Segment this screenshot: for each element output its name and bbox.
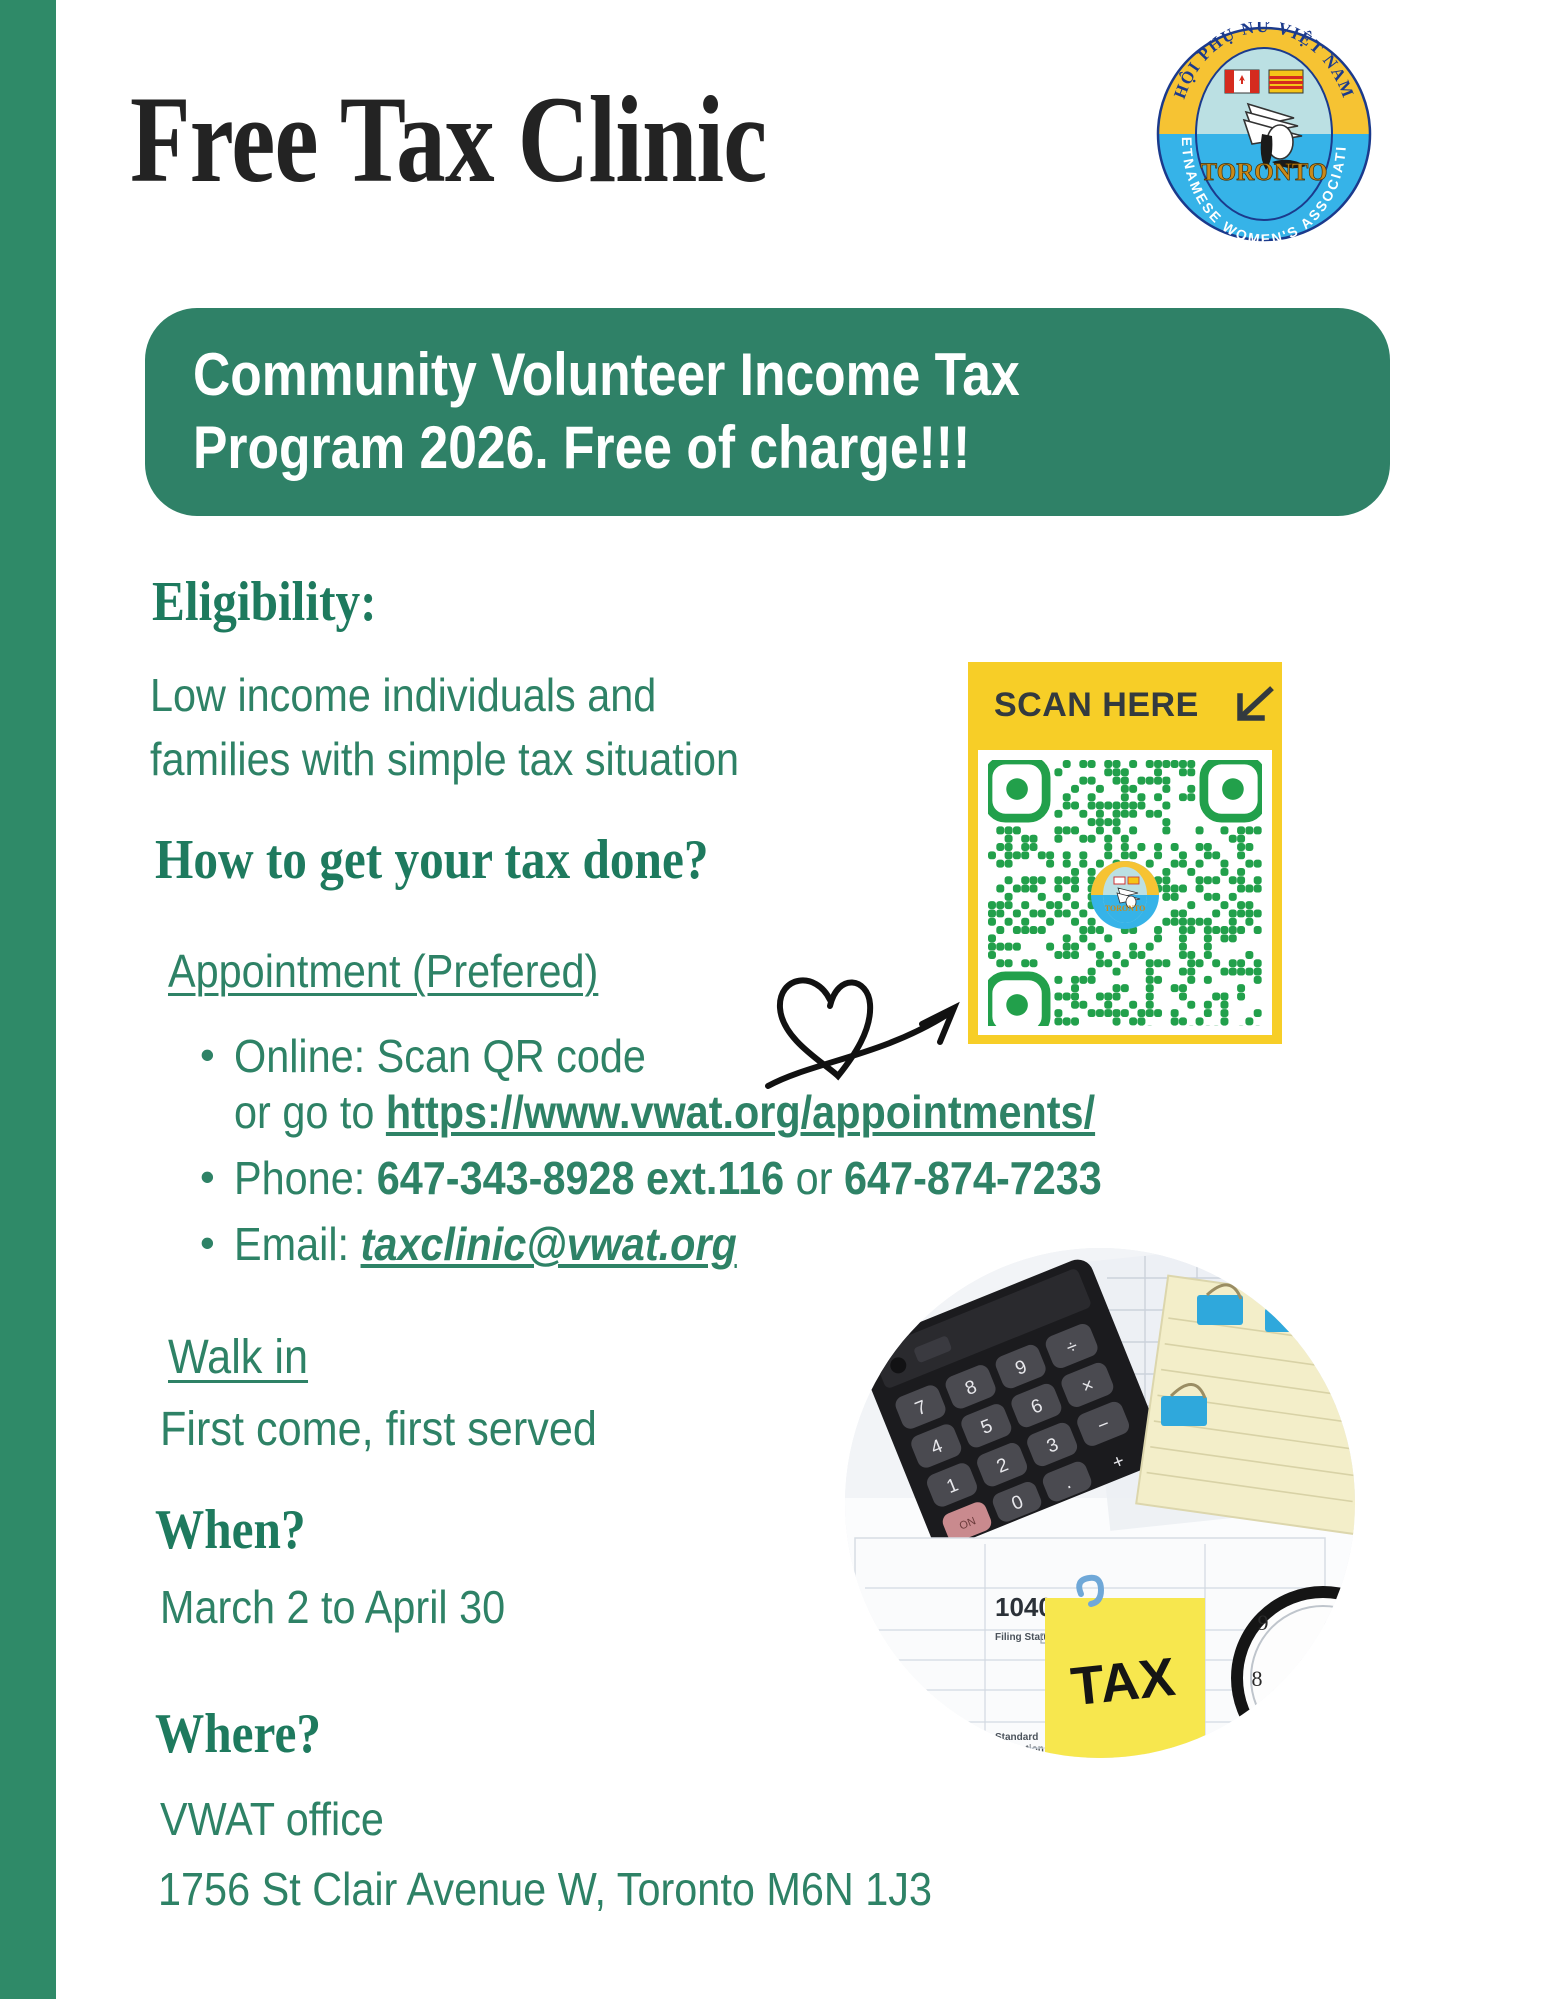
svg-text:TORONTO: TORONTO	[1201, 159, 1328, 186]
walk-in-detail: First come, first served	[160, 1402, 597, 1457]
poster-root: Free Tax Clinic	[0, 0, 1545, 1999]
email-address-link[interactable]: taxclinic@vwat.org	[361, 1218, 737, 1270]
form-number-label: 1040	[995, 1592, 1053, 1622]
bullet-icon: •	[200, 1150, 234, 1198]
program-banner-text: Community Volunteer Income Tax Program 2…	[193, 338, 1181, 484]
phone-number-primary[interactable]: 647-343-8928 ext.116	[377, 1152, 784, 1204]
goto-label: or go to	[234, 1086, 386, 1138]
svg-text:7: 7	[1270, 1718, 1281, 1743]
qr-code-block[interactable]: SCAN HERE TORONTO	[968, 662, 1282, 1044]
where-office-name: VWAT office	[160, 1792, 384, 1846]
svg-text:Standard: Standard	[995, 1732, 1038, 1743]
sticky-note-text: TAX	[1068, 1647, 1178, 1718]
bullet-icon: •	[200, 1028, 234, 1076]
email-bullet-body: Email: taxclinic@vwat.org	[234, 1216, 737, 1272]
left-accent-stripe	[0, 0, 56, 1999]
where-heading: Where?	[155, 1702, 321, 1766]
when-heading: When?	[155, 1498, 306, 1562]
list-item: • Email: taxclinic@vwat.org	[200, 1216, 1380, 1272]
phone-number-secondary[interactable]: 647-874-7233	[844, 1152, 1102, 1204]
page-title: Free Tax Clinic	[130, 78, 766, 202]
bullet-icon: •	[200, 1216, 234, 1264]
list-item: • Phone: 647-343-8928 ext.116 or 647-874…	[200, 1150, 1380, 1206]
eligibility-line-1: Low income individuals and	[150, 668, 656, 722]
appointment-subheading: Appointment (Prefered)	[168, 944, 598, 998]
tax-desk-photo: 78 9÷ 45 6× 12 3− 0. + ON	[845, 1248, 1355, 1758]
walk-in-heading: Walk in	[168, 1330, 308, 1385]
svg-text:TORONTO: TORONTO	[1105, 904, 1146, 913]
phone-separator: or	[784, 1152, 844, 1204]
eligibility-line-2: families with simple tax situation	[150, 732, 739, 786]
how-to-heading: How to get your tax done?	[155, 828, 708, 892]
where-address: 1756 St Clair Avenue W, Toronto M6N 1J3	[158, 1862, 932, 1916]
when-detail: March 2 to April 30	[160, 1580, 505, 1634]
heart-arrow-doodle	[742, 952, 992, 1092]
svg-text:9: 9	[1258, 1610, 1269, 1635]
qr-center-logo: TORONTO	[1090, 860, 1160, 930]
appointments-link[interactable]: https://www.vwat.org/appointments/	[386, 1086, 1095, 1138]
arrow-down-left-icon	[1230, 682, 1276, 728]
email-label: Email:	[234, 1218, 361, 1270]
scan-here-label: SCAN HERE	[994, 686, 1199, 725]
vwat-logo: TORONTO HỘI PHỤ NỮ VIỆT NAM VIETNAMESE W…	[1152, 22, 1376, 246]
phone-label: Phone:	[234, 1152, 377, 1204]
svg-text:8: 8	[1252, 1666, 1263, 1691]
svg-text:Deduction: Deduction	[995, 1744, 1044, 1755]
online-label: Online: Scan QR code	[234, 1030, 646, 1082]
program-banner: Community Volunteer Income Tax Program 2…	[145, 308, 1390, 516]
eligibility-heading: Eligibility:	[152, 570, 377, 634]
phone-bullet-body: Phone: 647-343-8928 ext.116 or 647-874-7…	[234, 1150, 1102, 1206]
